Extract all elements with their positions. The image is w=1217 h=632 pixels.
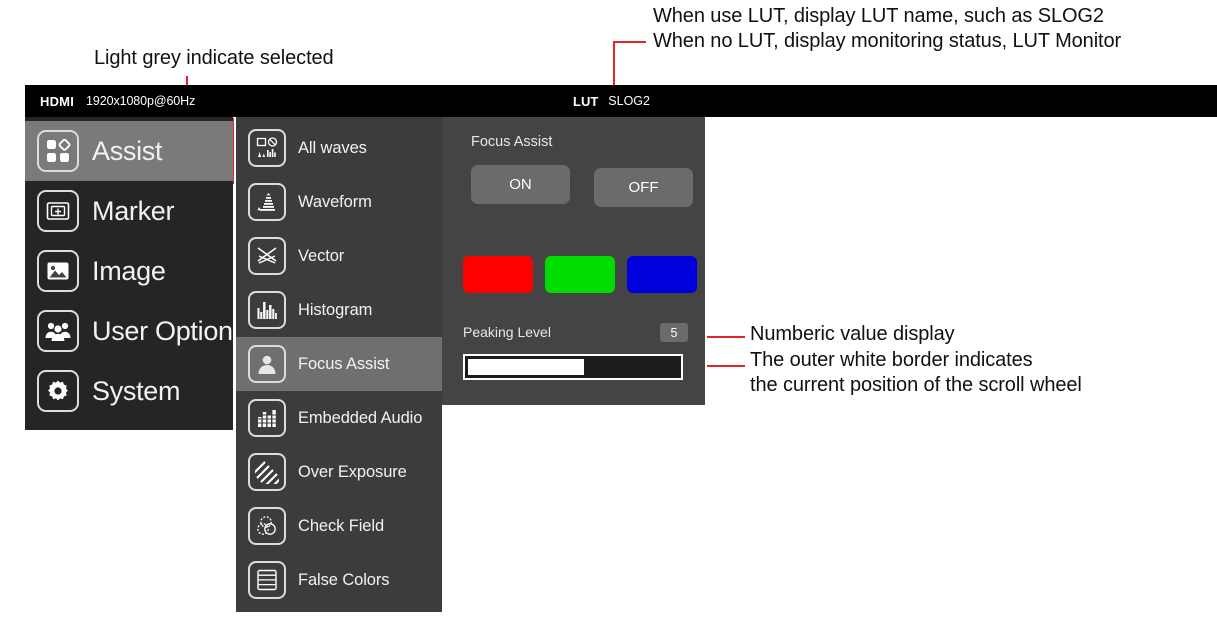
mid-menu: All waves Waveform Vector: [236, 117, 442, 612]
leader-line-lut-vertical: [613, 41, 615, 91]
menu-item-vector[interactable]: Vector: [236, 229, 442, 283]
color-swatch-blue[interactable]: [627, 256, 697, 293]
menu-item-label: Embedded Audio: [298, 409, 422, 428]
menu-item-label: Over Exposure: [298, 463, 407, 482]
menu-item-label: False Colors: [298, 571, 389, 590]
peaking-level-slider-fill: [468, 359, 584, 375]
peaking-level-value: 5: [660, 323, 688, 342]
left-menu: Assist Marker Image: [25, 117, 233, 430]
leader-line-lut-horizontal: [613, 41, 646, 43]
system-gear-icon: [37, 370, 79, 412]
status-lut-key: LUT: [573, 94, 598, 109]
device-screen: HDMI 1920x1080p@60Hz LUT SLOG2: [25, 85, 1217, 117]
leader-line-scroll-border: [707, 365, 745, 367]
all-waves-icon: [248, 129, 286, 167]
annotation-scroll-border: The outer white border indicates the cur…: [750, 348, 1082, 398]
peaking-level-slider[interactable]: [463, 354, 683, 380]
menu-item-embedded-audio[interactable]: Embedded Audio: [236, 391, 442, 445]
focus-assist-panel: Focus Assist ON OFF Peaking Level 5: [442, 117, 705, 405]
menu-item-label: Waveform: [298, 193, 372, 212]
menu-item-label: Focus Assist: [298, 355, 389, 374]
annotation-light-grey-selected: Light grey indicate selected: [94, 46, 334, 71]
status-lut-badge: LUT SLOG2: [573, 85, 650, 117]
status-bar: HDMI 1920x1080p@60Hz LUT SLOG2: [25, 85, 1217, 117]
assist-icon: [37, 130, 79, 172]
focus-assist-off-button[interactable]: OFF: [594, 168, 693, 207]
color-swatch-green[interactable]: [545, 256, 615, 293]
sidebar-item-assist[interactable]: Assist: [25, 121, 233, 181]
color-swatch-red[interactable]: [463, 256, 533, 293]
sidebar-item-label: Image: [92, 256, 166, 287]
marker-icon: [37, 190, 79, 232]
menu-item-label: Histogram: [298, 301, 372, 320]
sidebar-item-label: Marker: [92, 196, 174, 227]
leader-line-numeric-value: [707, 336, 745, 338]
over-exposure-icon: [248, 453, 286, 491]
vector-icon: [248, 237, 286, 275]
status-lut-value: SLOG2: [608, 94, 650, 108]
histogram-icon: [248, 291, 286, 329]
embedded-audio-icon: [248, 399, 286, 437]
sidebar-item-marker[interactable]: Marker: [25, 181, 233, 241]
sidebar-item-label: User Option: [92, 316, 233, 347]
menu-item-check-field[interactable]: Check Field: [236, 499, 442, 553]
menu-item-all-waves[interactable]: All waves: [236, 121, 442, 175]
sidebar-item-system[interactable]: System: [25, 361, 233, 421]
annotation-lut-description: When use LUT, display LUT name, such as …: [653, 4, 1121, 54]
status-source-label: HDMI: [40, 94, 74, 109]
check-field-icon: [248, 507, 286, 545]
menu-item-over-exposure[interactable]: Over Exposure: [236, 445, 442, 499]
focus-assist-icon: [248, 345, 286, 383]
annotation-lut-line1: When use LUT, display LUT name, such as …: [653, 5, 1104, 27]
status-resolution-label: 1920x1080p@60Hz: [86, 94, 195, 108]
sidebar-item-image[interactable]: Image: [25, 241, 233, 301]
annotation-lut-line2: When no LUT, display monitoring status, …: [653, 30, 1121, 52]
menu-item-false-colors[interactable]: False Colors: [236, 553, 442, 607]
peaking-level-label: Peaking Level: [463, 324, 551, 340]
false-colors-icon: [248, 561, 286, 599]
panel-title: Focus Assist: [471, 134, 552, 150]
menu-item-label: All waves: [298, 139, 367, 158]
menu-item-label: Check Field: [298, 517, 384, 536]
user-option-icon: [37, 310, 79, 352]
menu-item-label: Vector: [298, 247, 344, 266]
sidebar-item-user-option[interactable]: User Option: [25, 301, 233, 361]
waveform-icon: [248, 183, 286, 221]
sidebar-item-label: System: [92, 376, 180, 407]
menu-item-histogram[interactable]: Histogram: [236, 283, 442, 337]
annotation-numeric-value: Numberic value display: [750, 322, 955, 347]
menu-item-waveform[interactable]: Waveform: [236, 175, 442, 229]
sidebar-item-label: Assist: [92, 136, 162, 167]
menu-item-focus-assist[interactable]: Focus Assist: [236, 337, 442, 391]
focus-assist-on-button[interactable]: ON: [471, 165, 570, 204]
image-icon: [37, 250, 79, 292]
